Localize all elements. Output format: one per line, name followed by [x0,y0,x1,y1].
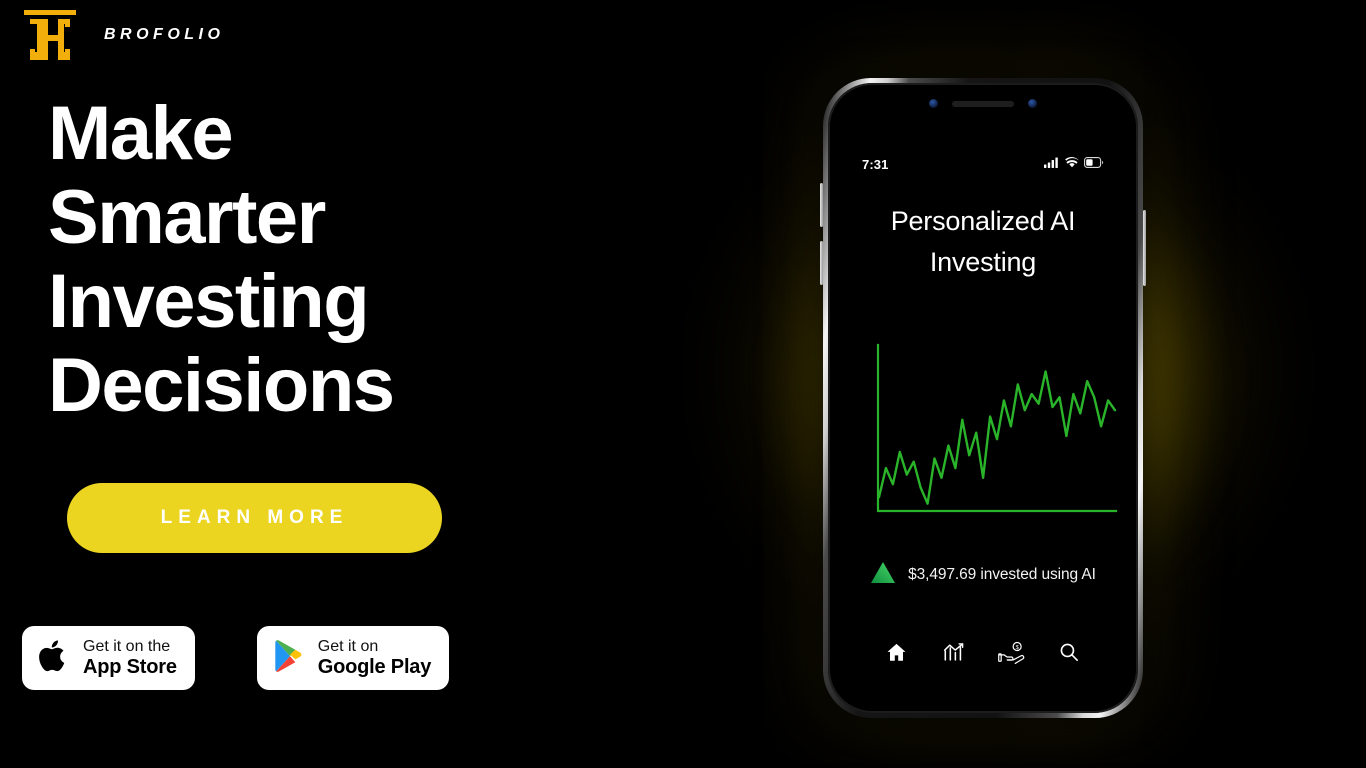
earpiece-speaker [952,101,1014,107]
front-camera-icon [929,99,938,108]
headline-line-3: Investing [48,260,394,344]
brofolio-monogram-icon [22,8,78,62]
google-play-badge[interactable]: Get it on Google Play [257,626,449,690]
wifi-icon [1065,155,1079,173]
investment-line-chart [872,341,1120,521]
investment-text: $3,497.69 invested using AI [908,566,1096,584]
status-time: 7:31 [862,157,888,172]
phone-mockup: 7:31 [823,78,1143,718]
cellular-signal-icon [1044,155,1060,173]
battery-icon [1084,155,1104,173]
phone-screen: 7:31 [828,83,1138,713]
face-sensor-icon [1028,99,1037,108]
notch-sensor-cluster [929,99,1037,108]
home-icon[interactable] [882,637,912,667]
google-play-icon [273,639,305,678]
power-button[interactable] [1143,210,1146,286]
headline-line-1: Make [48,92,394,176]
app-store-badge[interactable]: Get it on the App Store [22,626,195,690]
page-title: Make Smarter Investing Decisions [48,92,394,428]
brand-wordmark: BROFOLIO [104,26,224,44]
chart-svg [872,341,1120,521]
headline-line-2: Smarter [48,176,394,260]
hand-holding-money-icon[interactable]: $ [997,637,1027,667]
search-icon[interactable] [1054,637,1084,667]
screen-title: Personalized AI Investing [828,201,1138,283]
google-play-badge-text: Get it on Google Play [318,638,431,678]
headline-line-4: Decisions [48,344,394,428]
learn-more-button[interactable]: LEARN MORE [67,483,442,553]
brand-bar: BROFOLIO [22,8,224,62]
status-icons [1044,155,1104,173]
app-store-badge-top: Get it on the [83,638,177,656]
green-up-triangle-icon [870,561,896,589]
volume-up-button[interactable] [820,183,823,227]
investment-summary: $3,497.69 invested using AI [828,561,1138,589]
apple-logo-icon [38,637,70,680]
volume-down-button[interactable] [820,241,823,285]
store-badges: Get it on the App Store Get it on Google… [22,626,449,690]
google-play-badge-top: Get it on [318,638,431,656]
bar-chart-trend-icon[interactable] [939,637,969,667]
status-bar: 7:31 [828,155,1138,173]
bottom-navigation: $ [828,637,1138,667]
google-play-badge-bottom: Google Play [318,656,431,678]
app-store-badge-bottom: App Store [83,656,177,678]
app-store-badge-text: Get it on the App Store [83,638,177,678]
